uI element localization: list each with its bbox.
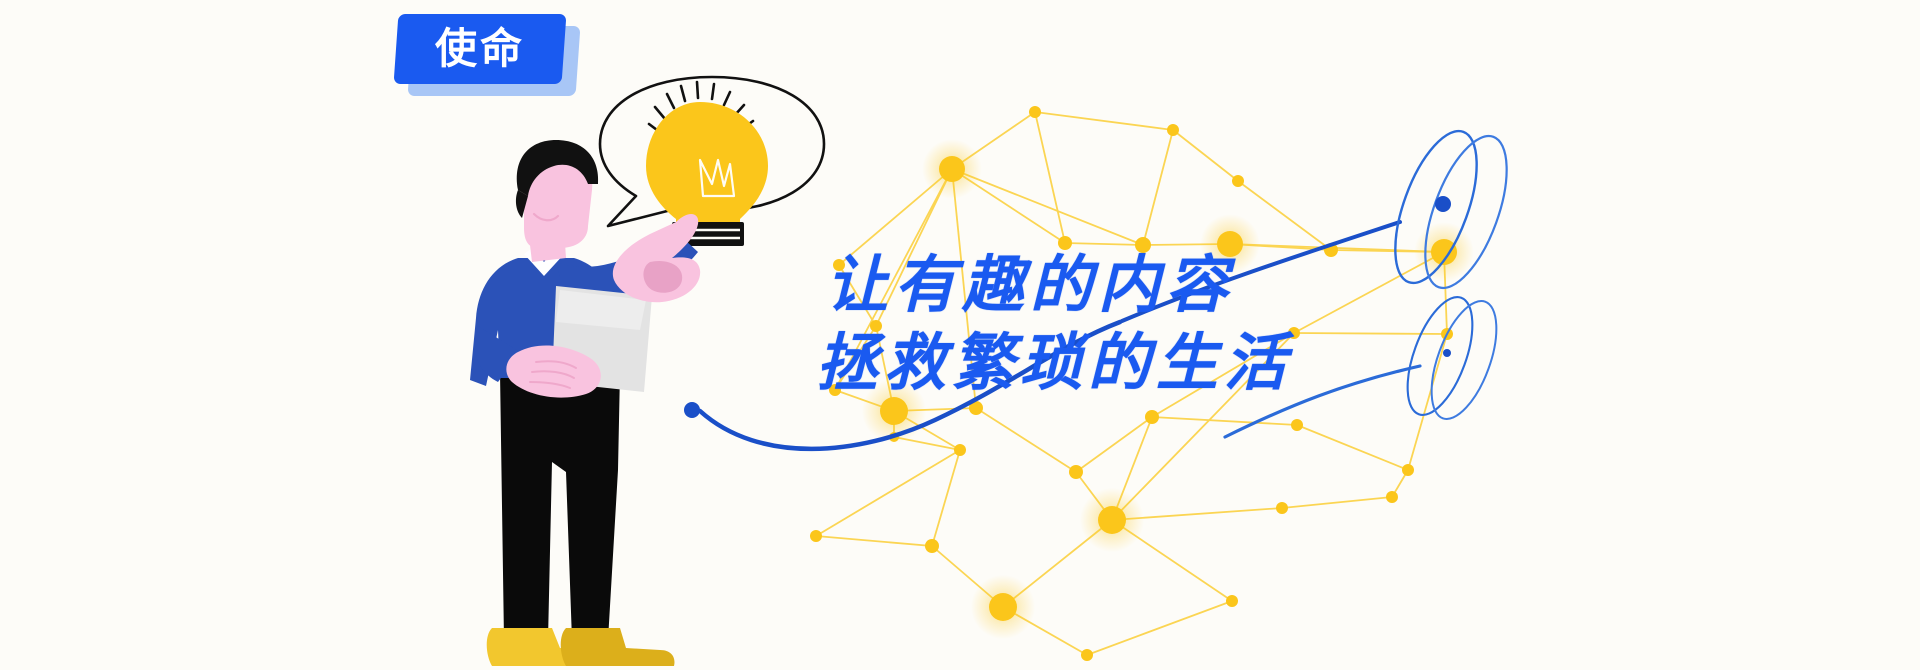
lightbulb-icon <box>646 102 768 246</box>
badge-body[interactable]: 使命 <box>394 14 567 84</box>
badge-label: 使命 <box>435 28 525 70</box>
person-head <box>516 140 598 262</box>
person-shoes <box>487 628 675 666</box>
mission-badge[interactable]: 使命 <box>396 14 576 90</box>
person-pointing-icon <box>0 0 1920 670</box>
person-hand-pointing <box>613 214 700 302</box>
person-pants <box>500 372 620 640</box>
mission-banner: 让有趣的内容 拯救繁琐的生活 使命 <box>0 0 1920 670</box>
